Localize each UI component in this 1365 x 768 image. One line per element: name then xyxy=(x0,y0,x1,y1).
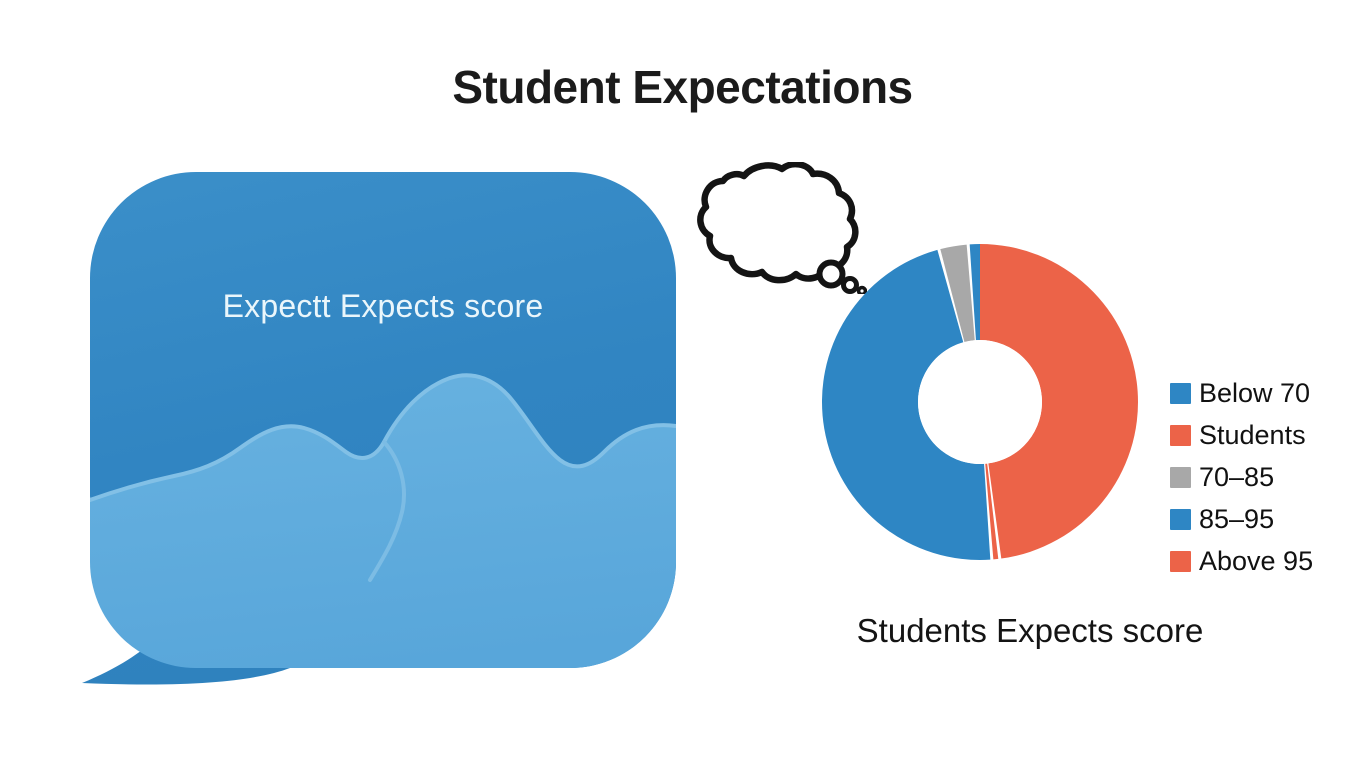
donut-chart-svg xyxy=(818,240,1142,564)
legend-item-2[interactable]: 70–85 xyxy=(1170,456,1360,498)
speech-bubble-illustration: Expectt Expects score xyxy=(78,160,688,690)
legend-item-0[interactable]: Below 70 xyxy=(1170,372,1360,414)
legend-swatch-icon-0 xyxy=(1170,383,1191,404)
legend-swatch-icon-1 xyxy=(1170,425,1191,446)
legend-label-3: 85–95 xyxy=(1199,506,1274,533)
legend-swatch-icon-4 xyxy=(1170,551,1191,572)
legend-item-1[interactable]: Students xyxy=(1170,414,1360,456)
speech-bubble-icon xyxy=(78,160,688,690)
donut-chart xyxy=(818,240,1142,564)
legend-label-0: Below 70 xyxy=(1199,380,1310,407)
donut-caption: Students Expects score xyxy=(790,612,1270,650)
legend-label-1: Students xyxy=(1199,422,1306,449)
slide-canvas: Student Expectations xyxy=(0,0,1365,768)
chart-legend: Below 70 Students 70–85 85–95 Above 95 xyxy=(1170,372,1360,582)
speech-bubble-text: Expectt Expects score xyxy=(78,288,688,325)
legend-label-2: 70–85 xyxy=(1199,464,1274,491)
legend-item-3[interactable]: 85–95 xyxy=(1170,498,1360,540)
legend-label-4: Above 95 xyxy=(1199,548,1313,575)
page-title: Student Expectations xyxy=(0,60,1365,114)
legend-swatch-icon-2 xyxy=(1170,467,1191,488)
legend-item-4[interactable]: Above 95 xyxy=(1170,540,1360,582)
legend-swatch-icon-3 xyxy=(1170,509,1191,530)
donut-center-hole xyxy=(918,340,1042,464)
